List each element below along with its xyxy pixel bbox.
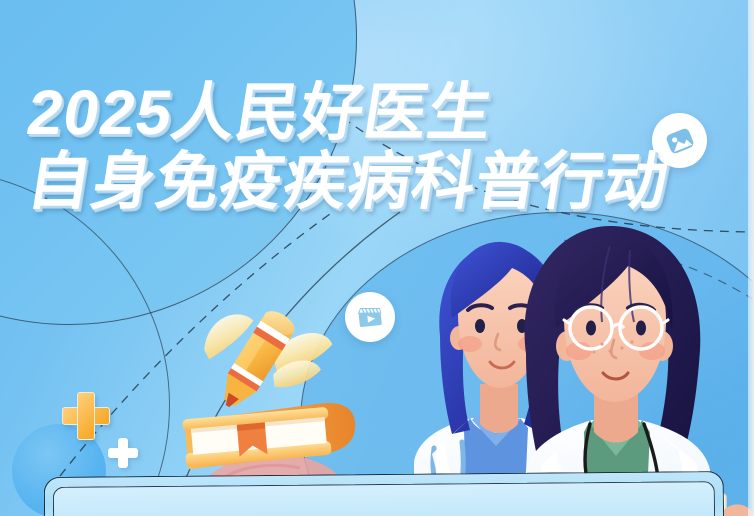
plus-orange-icon xyxy=(62,392,108,438)
title-line-2: 自身免疫疾病科普行动 xyxy=(23,151,673,214)
bottom-panel[interactable]: 内容面板 xyxy=(44,471,725,516)
video-badge[interactable]: 视频 xyxy=(345,292,395,342)
title-line-1: 2025人民好医生 xyxy=(23,82,673,145)
right-frame-edge xyxy=(748,0,754,516)
poster-title: 2025人民好医生 自身免疫疾病科普行动 xyxy=(28,82,668,214)
poster-canvas: 2025人民好医生 自身免疫疾病科普行动 图文 视频 xyxy=(0,0,754,516)
video-clapperboard-icon xyxy=(354,301,386,333)
book-icon xyxy=(180,402,360,472)
plus-white-icon xyxy=(108,438,138,468)
bottom-panel-inner xyxy=(53,481,715,516)
